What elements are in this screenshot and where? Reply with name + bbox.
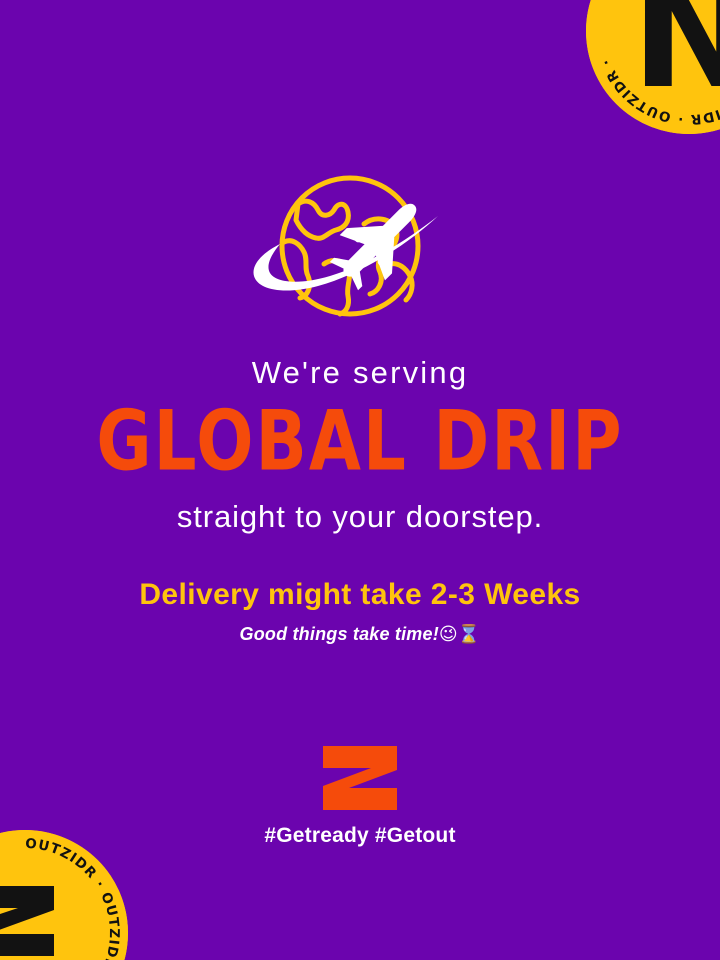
delivery-notice: Delivery might take 2-3 Weeks (0, 578, 720, 611)
delivery-note-text: Good things take time! (240, 624, 439, 644)
hashtags-text: #Getready #Getout (0, 824, 720, 848)
page-title: GLOBAL DRIP (0, 400, 720, 483)
poster-canvas: OUTZIDR · OUTZIDR · OUTZIDR · OUTZIDR · … (0, 0, 720, 960)
globe-landmass-north (296, 201, 348, 238)
brand-badge-bottom-left[interactable]: OUTZIDR · OUTZIDR · OUTZIDR · OUTZIDR · … (0, 830, 128, 960)
copy-block: We're serving GLOBAL DRIP straight to yo… (0, 356, 720, 645)
footer-block: #Getready #Getout (0, 744, 720, 848)
badge-center-letter: N (631, 0, 720, 122)
globe-plane-artwork (0, 168, 720, 336)
note-emoji: 😉⌛ (439, 624, 481, 645)
delivery-note: Good things take time!😉⌛ (0, 625, 720, 645)
brand-badge-top-right[interactable]: OUTZIDR · OUTZIDR · OUTZIDR · OUTZIDR · … (586, 0, 720, 134)
eyebrow-text: We're serving (0, 356, 720, 390)
subtitle-text: straight to your doorstep. (0, 500, 720, 534)
z-logo-icon[interactable] (321, 744, 399, 812)
